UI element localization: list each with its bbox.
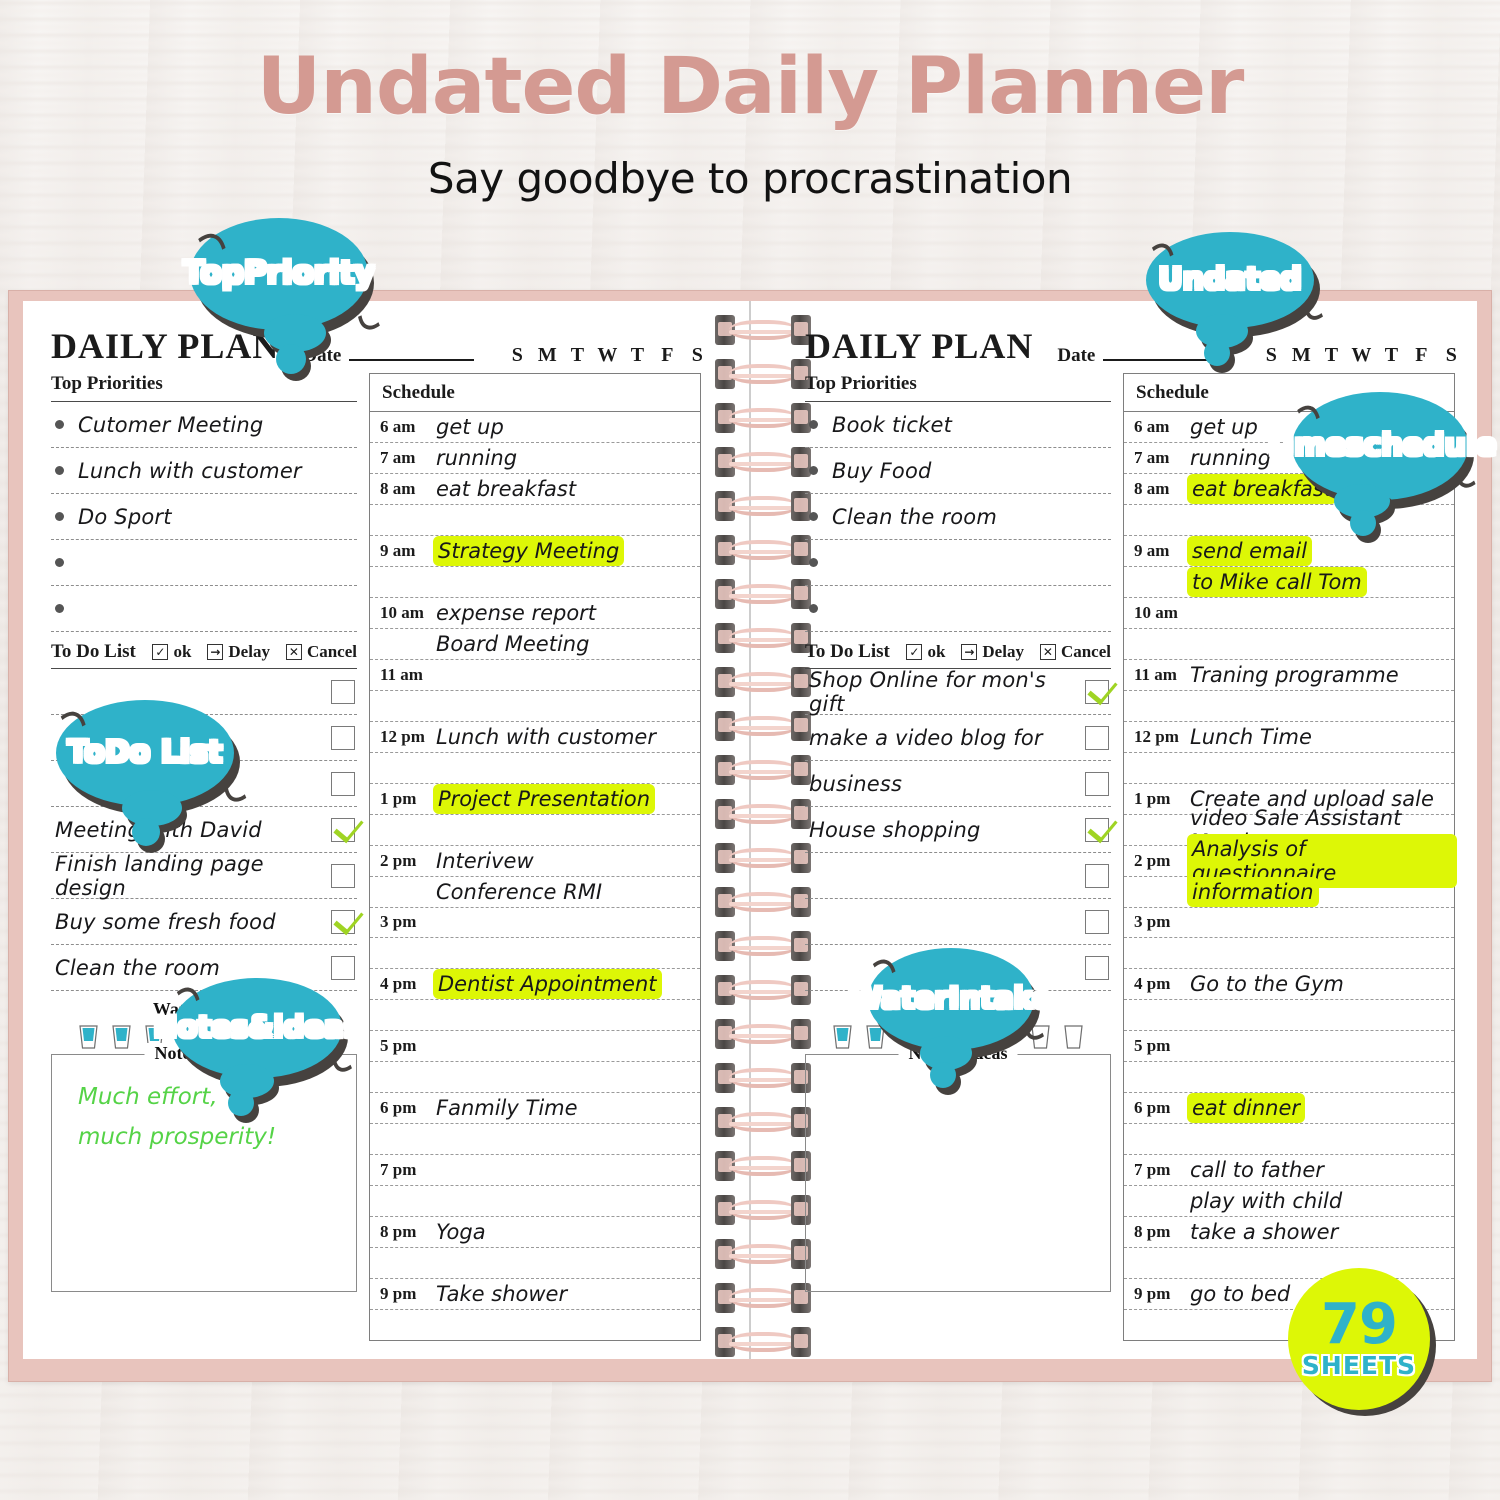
todo-row[interactable]: business (805, 761, 1111, 807)
bullet-icon (55, 558, 64, 567)
todo-checkbox[interactable] (1085, 726, 1109, 750)
todo-checkbox[interactable] (1085, 772, 1109, 796)
schedule-row[interactable]: 1 pmProject Presentation (370, 784, 700, 815)
schedule-hour: 12 pm (380, 727, 436, 747)
schedule-hour: 7 pm (1134, 1160, 1190, 1180)
schedule-event: Conference RMI (436, 880, 602, 904)
schedule-row[interactable]: 9 amsend email (1124, 536, 1454, 567)
sheet-count-number: 79 (1321, 1298, 1397, 1351)
schedule-event: eat breakfast (436, 477, 576, 501)
promo-header: Undated Daily Planner Say goodbye to pro… (0, 0, 1500, 203)
schedule-row[interactable] (1124, 1124, 1454, 1155)
schedule-event: send email (1190, 539, 1309, 563)
schedule-event: Board Meeting (436, 632, 589, 656)
schedule-hour: 4 pm (1134, 974, 1190, 994)
schedule-row[interactable]: 12 pmLunch Time (1124, 722, 1454, 753)
page-subtitle: Say goodbye to procrastination (0, 154, 1500, 203)
schedule-hour: 9 am (1134, 541, 1190, 561)
bullet-icon (809, 604, 818, 613)
todo-text: make a video blog for (805, 726, 1085, 750)
schedule-row[interactable]: 2 pmAnalysis of questionnaire (1124, 846, 1454, 877)
top-priorities-list-left: Cutomer MeetingLunch with customerDo Spo… (51, 402, 357, 632)
schedule-hour: 9 pm (1134, 1284, 1190, 1304)
schedule-hour: 11 am (380, 665, 436, 685)
todo-checkbox[interactable] (1085, 956, 1109, 980)
schedule-event: Interivew (436, 849, 534, 873)
todo-text: Shop Online for mon's gift (805, 668, 1085, 716)
schedule-hour: 7 pm (380, 1160, 436, 1180)
schedule-hour: 9 pm (380, 1284, 436, 1304)
schedule-row[interactable] (370, 567, 700, 598)
schedule-hour: 2 pm (380, 851, 436, 871)
todo-text: Clean the room (51, 956, 331, 980)
schedule-hour: 1 pm (1134, 789, 1190, 809)
schedule-row[interactable]: 6 pmeat dinner (1124, 1093, 1454, 1124)
schedule-hour: 9 am (380, 541, 436, 561)
schedule-row[interactable]: play with child (1124, 1186, 1454, 1217)
schedule-row[interactable]: 9 amStrategy Meeting (370, 536, 700, 567)
schedule-event: to Mike call Tom (1190, 570, 1364, 594)
schedule-row[interactable] (1124, 505, 1454, 536)
legend-cancel-label: Cancel (1061, 642, 1111, 662)
callout-notes-ideas: Notes&ideas (172, 978, 342, 1078)
bullet-icon (55, 420, 64, 429)
schedule-row[interactable] (370, 938, 700, 969)
schedule-row[interactable]: 3 pm (1124, 908, 1454, 939)
schedule-row[interactable]: to Mike call Tom (1124, 567, 1454, 598)
dow-0[interactable]: S (502, 344, 532, 367)
callout-top-priority: TopPriority (190, 218, 368, 330)
schedule-row[interactable]: 4 pmGo to the Gym (1124, 969, 1454, 1000)
notes-line: Much effort, (78, 1077, 356, 1117)
todo-checkbox[interactable] (331, 680, 355, 704)
left-column-left-page: Top Priorities Cutomer MeetingLunch with… (51, 373, 357, 1341)
schedule-row[interactable]: 10 amexpense report (370, 598, 700, 629)
schedule-label-left: Schedule (370, 374, 700, 412)
schedule-event: expense report (436, 601, 596, 625)
water-glass-filled[interactable] (77, 1024, 100, 1050)
dow-1[interactable]: M (532, 344, 562, 367)
schedule-row[interactable]: 7 pm (370, 1155, 700, 1186)
todo-text: business (805, 772, 1085, 796)
schedule-hour: 12 pm (1134, 727, 1190, 747)
todo-label-right: To Do List (805, 641, 890, 663)
planner-page-left: DAILY PLAN Date SMTWTFS Top Priorities C… (23, 301, 711, 1359)
schedule-row[interactable]: information (1124, 877, 1454, 908)
left-column-right-page: Top Priorities Book ticketBuy FoodClean … (805, 373, 1111, 1341)
todo-label-left: To Do List (51, 641, 136, 663)
todo-row[interactable]: Shop Online for mon's gift (805, 669, 1111, 715)
arrow-right-icon: → (207, 644, 223, 660)
schedule-row[interactable] (1124, 753, 1454, 784)
schedule-row[interactable]: 9 pmTake shower (370, 1279, 700, 1310)
priority-row[interactable] (805, 540, 1111, 586)
todo-text: House shopping (805, 818, 1085, 842)
schedule-row[interactable] (1124, 1248, 1454, 1279)
schedule-event: get up (436, 415, 504, 439)
schedule-row[interactable] (370, 1062, 700, 1093)
schedule-event: Take shower (436, 1282, 567, 1306)
schedule-row[interactable]: 4 pmDentist Appointment (370, 969, 700, 1000)
check-icon: ✓ (152, 644, 168, 660)
schedule-hour: 5 pm (380, 1036, 436, 1056)
dow-5[interactable]: F (652, 344, 682, 367)
schedule-event: Go to the Gym (1190, 972, 1344, 996)
schedule-row[interactable]: 7 pmcall to father (1124, 1155, 1454, 1186)
schedule-row[interactable]: 6 amget up (370, 412, 700, 443)
priority-row[interactable] (51, 540, 357, 586)
spiral-binding (711, 301, 789, 1359)
callout-time-schedule: Timeschedule (1292, 392, 1468, 500)
daily-plan-title-right: DAILY PLAN (805, 325, 1033, 367)
todo-checkbox[interactable] (331, 726, 355, 750)
schedule-row[interactable] (370, 815, 700, 846)
priority-row[interactable]: Lunch with customer (51, 448, 357, 494)
priority-row[interactable]: Do Sport (51, 494, 357, 540)
bullet-icon (809, 466, 818, 475)
schedule-hour: 1 pm (380, 789, 436, 809)
schedule-hour: 10 am (380, 603, 436, 623)
schedule-hour: 4 pm (380, 974, 436, 994)
legend-ok-label: ok (927, 642, 945, 662)
schedule-event: Dentist Appointment (436, 972, 659, 996)
day-of-week-selector-left[interactable]: SMTWTFS (502, 344, 712, 367)
callout-undated: Undated (1146, 232, 1314, 328)
todo-checkbox[interactable] (331, 864, 355, 888)
schedule-hour: 6 am (380, 417, 436, 437)
todo-checkbox[interactable] (331, 818, 355, 842)
schedule-row[interactable] (370, 1124, 700, 1155)
water-glass-empty[interactable] (1062, 1024, 1085, 1050)
schedule-row[interactable]: 10 am (1124, 598, 1454, 629)
callout-water-intake: WaterIntake (868, 948, 1034, 1050)
cross-icon: ✕ (1040, 644, 1056, 660)
schedule-row[interactable] (370, 1310, 700, 1340)
schedule-row[interactable]: 6 pmFanmily Time (370, 1093, 700, 1124)
schedule-row[interactable] (1124, 629, 1454, 660)
sheet-count-unit: SHEETS (1302, 1351, 1416, 1380)
todo-text: Buy some fresh food (51, 910, 331, 934)
schedule-event: play with child (1190, 1189, 1342, 1213)
bullet-icon (55, 466, 64, 475)
schedule-row[interactable] (370, 691, 700, 722)
todo-row[interactable]: House shopping (805, 807, 1111, 853)
bullet-icon (55, 604, 64, 613)
schedule-row[interactable]: Board Meeting (370, 629, 700, 660)
top-priorities-label-right: Top Priorities (805, 373, 1111, 401)
schedule-event: information (1190, 880, 1316, 904)
dow-0[interactable]: S (1256, 344, 1286, 367)
dow-4[interactable]: T (1376, 344, 1406, 367)
dow-6[interactable]: S (682, 344, 712, 367)
page-columns-left: Top Priorities Cutomer MeetingLunch with… (51, 373, 701, 1341)
schedule-row[interactable]: 8 pmYoga (370, 1217, 700, 1248)
notes-box-right[interactable]: Notes&Ideas (805, 1054, 1111, 1292)
schedule-hour: 8 am (1134, 479, 1190, 499)
schedule-row[interactable] (1124, 691, 1454, 722)
date-label-right: Date (1057, 345, 1095, 367)
todo-checkbox[interactable] (331, 772, 355, 796)
schedule-event: Lunch Time (1190, 725, 1312, 749)
legend-cancel-label: Cancel (307, 642, 357, 662)
priority-text: Do Sport (78, 505, 172, 529)
schedule-rows-right: 6 amget up7 amrunning8 ameat breakfast9 … (1124, 412, 1454, 1340)
schedule-event: Strategy Meeting (436, 539, 621, 563)
priority-text: Cutomer Meeting (78, 413, 263, 437)
todo-list-right: Shop Online for mon's giftmake a video b… (805, 669, 1111, 991)
dow-3[interactable]: W (1346, 344, 1376, 367)
top-priorities-list-right: Book ticketBuy FoodClean the room (805, 402, 1111, 632)
schedule-hour: 6 am (1134, 417, 1190, 437)
bullet-icon (809, 558, 818, 567)
schedule-row[interactable] (370, 1186, 700, 1217)
date-input-left[interactable] (349, 359, 474, 361)
bullet-icon (809, 420, 818, 429)
schedule-row[interactable]: 8 pmtake a shower (1124, 1217, 1454, 1248)
todo-row[interactable] (805, 899, 1111, 945)
schedule-hour: 8 am (380, 479, 436, 499)
priority-row[interactable]: Cutomer Meeting (51, 402, 357, 448)
priority-text: Book ticket (832, 413, 952, 437)
page-title: Undated Daily Planner (0, 42, 1500, 132)
legend-ok-label: ok (173, 642, 191, 662)
dow-2[interactable]: T (562, 344, 592, 367)
priority-row[interactable]: Book ticket (805, 402, 1111, 448)
daily-plan-title-left: DAILY PLAN (51, 325, 279, 367)
priority-row[interactable] (805, 586, 1111, 632)
schedule-event: Traning programme (1190, 663, 1399, 687)
schedule-event: get up (1190, 415, 1258, 439)
water-glass-filled[interactable] (831, 1024, 854, 1050)
legend-delay-label: Delay (982, 642, 1024, 662)
dow-4[interactable]: T (622, 344, 652, 367)
check-icon: ✓ (906, 644, 922, 660)
schedule-hour: 3 pm (380, 912, 436, 932)
priority-row[interactable]: Buy Food (805, 448, 1111, 494)
todo-checkbox[interactable] (1085, 818, 1109, 842)
schedule-event: Lunch with customer (436, 725, 656, 749)
sheet-count-badge: 79 SHEETS (1288, 1268, 1430, 1410)
schedule-row[interactable]: Conference RMI (370, 877, 700, 908)
schedule-hour: 3 pm (1134, 912, 1190, 932)
todo-text: Finish landing page design (51, 852, 331, 900)
schedule-hour: 10 am (1134, 603, 1190, 623)
cross-icon: ✕ (286, 644, 302, 660)
schedule-row[interactable]: 5 pm (370, 1031, 700, 1062)
priority-text: Clean the room (832, 505, 997, 529)
schedule-row[interactable] (1124, 938, 1454, 969)
dow-5[interactable]: F (1406, 344, 1436, 367)
schedule-hour: 7 am (1134, 448, 1190, 468)
schedule-event: take a shower (1190, 1220, 1338, 1244)
schedule-hour: 8 pm (1134, 1222, 1190, 1242)
todo-row[interactable]: make a video blog for (805, 715, 1111, 761)
schedule-hour: 6 pm (1134, 1098, 1190, 1118)
todo-header-right: To Do List ✓ ok → Delay ✕ Cancel (805, 641, 1111, 668)
schedule-row[interactable]: 11 amTraning programme (1124, 660, 1454, 691)
todo-legend-right: ✓ ok → Delay ✕ Cancel (906, 642, 1111, 662)
notes-box-left[interactable]: Notes&Ideas Much effort,much prosperity! (51, 1054, 357, 1292)
schedule-row[interactable]: 3 pm (370, 908, 700, 939)
priority-text: Buy Food (832, 459, 932, 483)
schedule-row[interactable] (370, 1248, 700, 1279)
date-bar-left: Date SMTWTFS (279, 344, 712, 367)
todo-checkbox[interactable] (1085, 864, 1109, 888)
bullet-icon (55, 512, 64, 521)
schedule-event: call to father (1190, 1158, 1324, 1182)
priority-row[interactable]: Clean the room (805, 494, 1111, 540)
arrow-right-icon: → (961, 644, 977, 660)
todo-text: Meeting with David (51, 818, 331, 842)
page-header-right: DAILY PLAN Date SMTWTFS (805, 321, 1455, 367)
schedule-event: Fanmily Time (436, 1096, 578, 1120)
date-bar-right: Date SMTWTFS (1033, 344, 1466, 367)
schedule-hour: 7 am (380, 448, 436, 468)
priority-row[interactable] (51, 586, 357, 632)
schedule-panel-left: Schedule 6 amget up7 amrunning8 ameat br… (369, 373, 701, 1341)
todo-checkbox[interactable] (331, 956, 355, 980)
schedule-row[interactable]: 8 ameat breakfast (370, 474, 700, 505)
schedule-row[interactable]: 11 am (370, 660, 700, 691)
schedule-row[interactable]: 7 amrunning (370, 443, 700, 474)
schedule-row[interactable]: 5 pm (1124, 1031, 1454, 1062)
todo-checkbox[interactable] (331, 910, 355, 934)
schedule-rows-left: 6 amget up7 amrunning8 ameat breakfast9 … (370, 412, 700, 1340)
schedule-hour: 2 pm (1134, 851, 1190, 871)
todo-legend-left: ✓ ok → Delay ✕ Cancel (152, 642, 357, 662)
schedule-row[interactable]: 2 pmInterivew (370, 846, 700, 877)
schedule-row[interactable]: 12 pmLunch with customer (370, 722, 700, 753)
schedule-row[interactable] (370, 753, 700, 784)
schedule-event: running (436, 446, 517, 470)
schedule-hour: 8 pm (380, 1222, 436, 1242)
schedule-panel-right: Schedule 6 amget up7 amrunning8 ameat br… (1123, 373, 1455, 1341)
schedule-event: eat dinner (1190, 1096, 1302, 1120)
callout-to-do-list: ToDo List (56, 700, 234, 806)
schedule-row[interactable] (1124, 1062, 1454, 1093)
todo-checkbox[interactable] (1085, 910, 1109, 934)
bullet-icon (809, 512, 818, 521)
todo-header-left: To Do List ✓ ok → Delay ✕ Cancel (51, 641, 357, 668)
schedule-event: Project Presentation (436, 787, 652, 811)
todo-row[interactable] (805, 853, 1111, 899)
schedule-event: running (1190, 446, 1271, 470)
dow-6[interactable]: S (1436, 344, 1466, 367)
todo-row[interactable]: Buy some fresh food (51, 899, 357, 945)
day-of-week-selector-right[interactable]: SMTWTFS (1256, 344, 1466, 367)
todo-row[interactable]: Meeting with David (51, 807, 357, 853)
schedule-row[interactable] (370, 1000, 700, 1031)
dow-2[interactable]: T (1316, 344, 1346, 367)
schedule-event: go to bed (1190, 1282, 1290, 1306)
schedule-hour: 11 am (1134, 665, 1190, 685)
dow-3[interactable]: W (592, 344, 622, 367)
priority-text: Lunch with customer (78, 459, 302, 483)
legend-delay-label: Delay (228, 642, 270, 662)
todo-checkbox[interactable] (1085, 680, 1109, 704)
planner-spread: DAILY PLAN Date SMTWTFS Top Priorities C… (23, 301, 1477, 1359)
schedule-hour: 6 pm (380, 1098, 436, 1118)
schedule-event: Yoga (436, 1220, 486, 1244)
schedule-row[interactable] (370, 505, 700, 536)
dow-1[interactable]: M (1286, 344, 1316, 367)
top-priorities-label-left: Top Priorities (51, 373, 357, 401)
schedule-row[interactable] (1124, 1000, 1454, 1031)
notes-line: much prosperity! (78, 1117, 356, 1157)
todo-row[interactable]: Finish landing page design (51, 853, 357, 899)
water-glass-filled[interactable] (110, 1024, 133, 1050)
schedule-hour: 5 pm (1134, 1036, 1190, 1056)
